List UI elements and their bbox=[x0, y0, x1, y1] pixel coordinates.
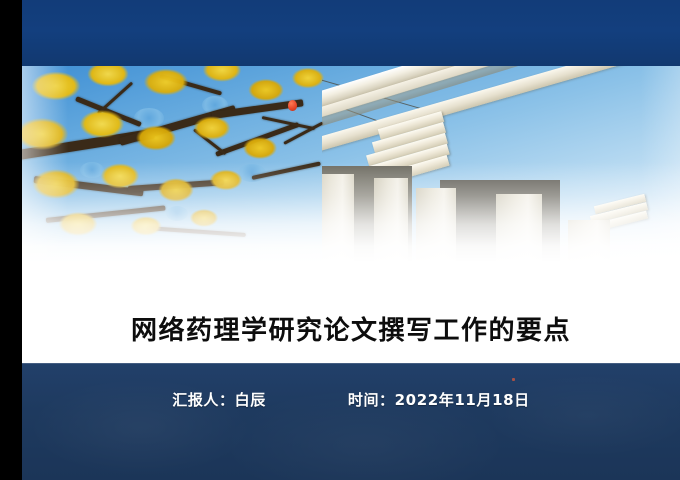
title-slide: 网络药理学研究论文撰写工作的要点 汇报人：白辰 时间：2022年11月18日 bbox=[0, 0, 680, 480]
slide-canvas: 网络药理学研究论文撰写工作的要点 汇报人：白辰 时间：2022年11月18日 bbox=[22, 0, 680, 480]
footer-band: 汇报人：白辰 时间：2022年11月18日 bbox=[22, 363, 680, 480]
letterbox-left-bar bbox=[0, 0, 22, 480]
hero-photo bbox=[22, 66, 680, 282]
footer-meta-row: 汇报人：白辰 时间：2022年11月18日 bbox=[22, 389, 680, 410]
top-decorative-band bbox=[22, 0, 680, 68]
page-title: 网络药理学研究论文撰写工作的要点 bbox=[131, 302, 571, 344]
compression-artifact bbox=[512, 378, 515, 381]
presenter-label: 汇报人：白辰 bbox=[172, 389, 266, 410]
title-band: 网络药理学研究论文撰写工作的要点 bbox=[22, 282, 680, 363]
photo-edge-fade bbox=[22, 66, 680, 282]
date-label: 时间：2022年11月18日 bbox=[348, 389, 530, 410]
